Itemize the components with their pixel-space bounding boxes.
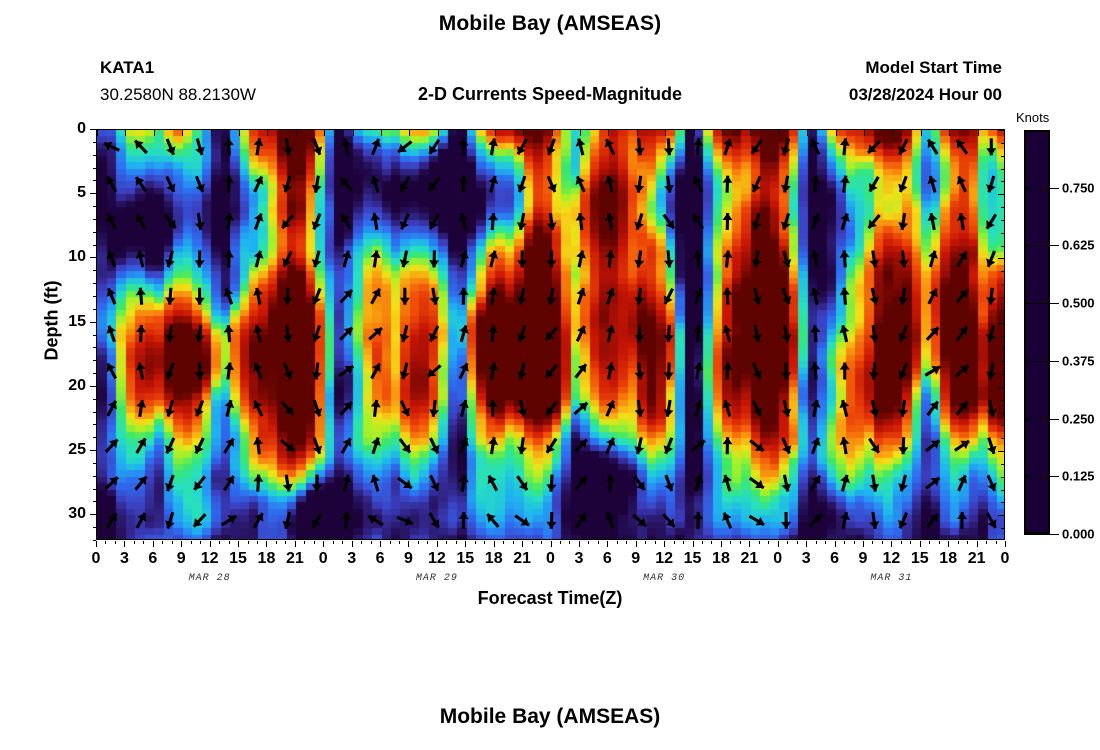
y-axis-minor-tick xyxy=(93,180,96,181)
x-axis-minor-tick xyxy=(588,541,589,544)
x-axis-top-tick xyxy=(523,130,524,136)
x-axis-tick-label: 0 xyxy=(546,550,555,568)
y-axis-minor-tick xyxy=(93,219,96,220)
x-axis-tick xyxy=(636,541,637,547)
x-axis-minor-tick xyxy=(854,541,855,544)
model-start-time-value: 03/28/2024 Hour 00 xyxy=(849,85,1002,105)
x-axis-minor-tick xyxy=(248,541,249,544)
x-axis-minor-tick xyxy=(655,541,656,544)
colorbar-level-divider xyxy=(1024,476,1050,477)
x-axis-day-label: MAR 29 xyxy=(416,573,458,584)
x-axis-top-tick xyxy=(438,130,439,136)
x-axis-minor-tick xyxy=(105,541,106,544)
y-axis-right-minor-tick xyxy=(1001,297,1004,298)
x-axis-tick xyxy=(380,541,381,547)
x-axis-tick xyxy=(835,541,836,547)
x-axis-tick-label: 15 xyxy=(684,550,702,568)
y-axis-right-minor-tick xyxy=(1001,310,1004,311)
x-axis-minor-tick xyxy=(333,541,334,544)
x-axis-tick xyxy=(295,541,296,547)
x-axis-tick xyxy=(181,541,182,547)
x-axis-tick-label: 18 xyxy=(712,550,730,568)
x-axis-tick xyxy=(494,541,495,547)
colorbar-tick xyxy=(1050,419,1059,420)
x-axis-tick-label: 21 xyxy=(740,550,758,568)
y-axis-minor-tick xyxy=(93,296,96,297)
x-axis-day-label: MAR 28 xyxy=(189,573,231,584)
x-axis-top-tick xyxy=(97,130,98,136)
colorbar-tick-label: 0.750 xyxy=(1062,180,1095,195)
y-axis-minor-tick xyxy=(93,335,96,336)
x-axis-top-tick xyxy=(466,130,467,136)
y-axis-tick-label: 20 xyxy=(68,377,86,395)
x-axis-top-tick xyxy=(154,130,155,136)
y-axis-title: Depth (ft) xyxy=(42,261,63,381)
y-axis-right-minor-tick xyxy=(1001,156,1004,157)
x-axis-tick xyxy=(721,541,722,547)
x-axis-minor-tick xyxy=(143,541,144,544)
y-axis-right-minor-tick xyxy=(1001,271,1004,272)
x-axis-minor-tick xyxy=(427,541,428,544)
x-axis-tick-label: 15 xyxy=(911,550,929,568)
x-axis-minor-tick xyxy=(730,541,731,544)
x-axis-tick-label: 15 xyxy=(456,550,474,568)
x-axis-top-tick xyxy=(949,130,950,136)
x-axis-top-tick xyxy=(125,130,126,136)
x-axis-top-tick xyxy=(324,130,325,136)
x-axis-top-tick xyxy=(694,130,695,136)
x-axis-minor-tick xyxy=(371,541,372,544)
y-axis-minor-tick xyxy=(93,412,96,413)
y-axis-right-minor-tick xyxy=(1001,438,1004,439)
y-axis-minor-tick xyxy=(93,270,96,271)
x-axis-tick xyxy=(607,541,608,547)
y-axis-minor-tick xyxy=(93,360,96,361)
x-axis-top-tick xyxy=(864,130,865,136)
x-axis-minor-tick xyxy=(314,541,315,544)
y-axis-right-minor-tick xyxy=(1001,233,1004,234)
y-axis-minor-tick xyxy=(93,245,96,246)
station-id: KATA1 xyxy=(100,58,154,78)
colorbar-tick-label: 0.500 xyxy=(1062,296,1095,311)
y-axis-right-minor-tick xyxy=(1001,348,1004,349)
bottom-title: Mobile Bay (AMSEAS) xyxy=(0,705,1100,729)
x-axis-tick xyxy=(352,541,353,547)
x-axis-tick xyxy=(266,541,267,547)
x-axis-minor-tick xyxy=(683,541,684,544)
x-axis-tick xyxy=(948,541,949,547)
x-axis-tick xyxy=(891,541,892,547)
x-axis-minor-tick xyxy=(711,541,712,544)
x-axis-minor-tick xyxy=(882,541,883,544)
x-axis-tick-label: 9 xyxy=(404,550,413,568)
x-axis-minor-tick xyxy=(484,541,485,544)
x-axis-minor-tick xyxy=(910,541,911,544)
y-axis-minor-tick xyxy=(93,437,96,438)
x-axis-tick-label: 3 xyxy=(347,550,356,568)
x-axis-top-tick xyxy=(921,130,922,136)
x-axis-minor-tick xyxy=(361,541,362,544)
x-axis-minor-tick xyxy=(674,541,675,544)
x-axis-top-tick xyxy=(211,130,212,136)
x-axis-tick-label: 3 xyxy=(120,550,129,568)
x-axis-tick-label: 6 xyxy=(603,550,612,568)
x-axis-tick-label: 3 xyxy=(802,550,811,568)
x-axis-tick-label: 18 xyxy=(485,550,503,568)
x-axis-minor-tick xyxy=(115,541,116,544)
x-axis-minor-tick xyxy=(872,541,873,544)
x-axis-tick xyxy=(806,541,807,547)
colorbar xyxy=(1024,130,1050,534)
x-axis-tick-label: 18 xyxy=(258,550,276,568)
y-axis-tick xyxy=(90,129,96,130)
x-axis-minor-tick xyxy=(768,541,769,544)
y-axis-minor-tick xyxy=(93,168,96,169)
y-axis-minor-tick xyxy=(93,489,96,490)
x-axis-tick-label: 12 xyxy=(655,550,673,568)
x-axis-minor-tick xyxy=(229,541,230,544)
y-axis-minor-tick xyxy=(93,232,96,233)
x-axis-minor-tick xyxy=(162,541,163,544)
x-axis-tick xyxy=(437,541,438,547)
y-axis-tick xyxy=(90,450,96,451)
y-axis-right-minor-tick xyxy=(1001,207,1004,208)
colorbar-level-divider xyxy=(1024,303,1050,304)
y-axis-right-minor-tick xyxy=(1001,220,1004,221)
x-axis-tick xyxy=(778,541,779,547)
x-axis-top-tick xyxy=(552,130,553,136)
x-axis-tick xyxy=(920,541,921,547)
colorbar-tick-label: 0.375 xyxy=(1062,353,1095,368)
x-axis-top-tick xyxy=(807,130,808,136)
x-axis-tick xyxy=(579,541,580,547)
x-axis-top-tick xyxy=(381,130,382,136)
y-axis-right-minor-tick xyxy=(1001,284,1004,285)
y-axis-tick xyxy=(90,386,96,387)
colorbar-tick xyxy=(1050,188,1059,189)
colorbar-tick xyxy=(1050,303,1059,304)
x-axis-top-tick xyxy=(836,130,837,136)
colorbar-tick-label: 0.125 xyxy=(1062,469,1095,484)
page-title: Mobile Bay (AMSEAS) xyxy=(0,12,1100,36)
colorbar-tick-label: 0.000 xyxy=(1062,527,1095,542)
x-axis-tick xyxy=(238,541,239,547)
colorbar-level-divider xyxy=(1024,361,1050,362)
x-axis-top-tick xyxy=(892,130,893,136)
x-axis-minor-tick xyxy=(172,541,173,544)
x-axis-top-tick xyxy=(665,130,666,136)
x-axis-minor-tick xyxy=(532,541,533,544)
y-axis-right-tick xyxy=(998,323,1004,324)
y-axis-right-minor-tick xyxy=(1001,181,1004,182)
colorbar-level-divider xyxy=(1024,188,1050,189)
y-axis-tick-label: 30 xyxy=(68,505,86,523)
x-axis-minor-tick xyxy=(456,541,457,544)
y-axis-right-minor-tick xyxy=(1001,502,1004,503)
y-axis-minor-tick xyxy=(93,399,96,400)
y-axis-tick xyxy=(90,514,96,515)
x-axis-tick xyxy=(522,541,523,547)
x-axis-tick xyxy=(124,541,125,547)
colorbar-tick xyxy=(1050,245,1059,246)
x-axis-minor-tick xyxy=(304,541,305,544)
x-axis-minor-tick xyxy=(399,541,400,544)
x-axis-minor-tick xyxy=(929,541,930,544)
x-axis-tick-label: 6 xyxy=(148,550,157,568)
x-axis-minor-tick xyxy=(901,541,902,544)
model-start-time-label: Model Start Time xyxy=(865,58,1002,78)
x-axis-minor-tick xyxy=(541,541,542,544)
x-axis-tick-label: 9 xyxy=(177,550,186,568)
y-axis-right-tick xyxy=(998,130,1004,131)
x-axis-top-tick xyxy=(779,130,780,136)
x-axis-title: Forecast Time(Z) xyxy=(0,588,1100,609)
y-axis-right-tick xyxy=(998,194,1004,195)
x-axis-tick-label: 0 xyxy=(319,550,328,568)
y-axis-minor-tick xyxy=(93,476,96,477)
x-axis-tick xyxy=(977,541,978,547)
x-axis-minor-tick xyxy=(191,541,192,544)
x-axis-top-tick xyxy=(978,130,979,136)
y-axis-right-minor-tick xyxy=(1001,425,1004,426)
x-axis-tick-label: 21 xyxy=(968,550,986,568)
y-axis-right-tick xyxy=(998,387,1004,388)
y-axis-tick-label: 0 xyxy=(77,120,86,138)
x-axis-top-tick xyxy=(267,130,268,136)
colorbar-level-divider xyxy=(1024,419,1050,420)
x-axis-top-tick xyxy=(608,130,609,136)
x-axis-minor-tick xyxy=(740,541,741,544)
x-axis-day-label: MAR 31 xyxy=(870,573,912,584)
x-axis-tick-label: 12 xyxy=(201,550,219,568)
x-axis-minor-tick xyxy=(702,541,703,544)
x-axis-minor-tick xyxy=(219,541,220,544)
x-axis-tick xyxy=(693,541,694,547)
x-axis-tick-label: 9 xyxy=(631,550,640,568)
x-axis-tick-label: 18 xyxy=(939,550,957,568)
y-axis-right-minor-tick xyxy=(1001,490,1004,491)
x-axis-minor-tick xyxy=(844,541,845,544)
x-axis-top-tick xyxy=(722,130,723,136)
x-axis-tick xyxy=(465,541,466,547)
x-axis-minor-tick xyxy=(617,541,618,544)
x-axis-minor-tick xyxy=(285,541,286,544)
y-axis-tick-label: 25 xyxy=(68,441,86,459)
y-axis-right-tick xyxy=(998,258,1004,259)
x-axis-tick-label: 6 xyxy=(830,550,839,568)
x-axis-tick-label: 3 xyxy=(574,550,583,568)
x-axis-minor-tick xyxy=(560,541,561,544)
x-axis-top-tick xyxy=(182,130,183,136)
x-axis-tick-label: 12 xyxy=(428,550,446,568)
y-axis-minor-tick xyxy=(93,540,96,541)
y-axis-right-minor-tick xyxy=(1001,374,1004,375)
x-axis-minor-tick xyxy=(475,541,476,544)
y-axis-minor-tick xyxy=(93,463,96,464)
x-axis-tick xyxy=(551,541,552,547)
y-axis-right-tick xyxy=(998,515,1004,516)
y-axis-right-minor-tick xyxy=(1001,361,1004,362)
colorbar-units-label: Knots xyxy=(1016,110,1049,125)
x-axis-minor-tick xyxy=(986,541,987,544)
y-axis-tick-label: 5 xyxy=(77,184,86,202)
y-axis-minor-tick xyxy=(93,206,96,207)
x-axis-top-tick xyxy=(409,130,410,136)
colorbar-tick xyxy=(1050,361,1059,362)
x-axis-minor-tick xyxy=(134,541,135,544)
x-axis-top-tick xyxy=(296,130,297,136)
y-axis-minor-tick xyxy=(93,142,96,143)
x-axis-minor-tick xyxy=(759,541,760,544)
y-axis-right-minor-tick xyxy=(1001,413,1004,414)
x-axis-tick-label: 21 xyxy=(513,550,531,568)
y-axis-right-minor-tick xyxy=(1001,528,1004,529)
x-axis-tick-label: 15 xyxy=(229,550,247,568)
x-axis-minor-tick xyxy=(200,541,201,544)
x-axis-day-label: MAR 30 xyxy=(643,573,685,584)
y-axis-minor-tick xyxy=(93,283,96,284)
heatmap-plot-area xyxy=(96,129,1005,540)
colorbar-tick-label: 0.250 xyxy=(1062,411,1095,426)
x-axis-minor-tick xyxy=(503,541,504,544)
y-axis-minor-tick xyxy=(93,309,96,310)
y-axis-tick xyxy=(90,322,96,323)
x-axis-tick-label: 21 xyxy=(286,550,304,568)
x-axis-tick-label: 12 xyxy=(882,550,900,568)
x-axis-minor-tick xyxy=(967,541,968,544)
x-axis-tick xyxy=(210,541,211,547)
colorbar-level-divider xyxy=(1024,245,1050,246)
y-axis-right-tick xyxy=(998,451,1004,452)
x-axis-tick xyxy=(96,541,97,547)
x-axis-minor-tick xyxy=(825,541,826,544)
x-axis-tick xyxy=(1005,541,1006,547)
x-axis-top-tick xyxy=(580,130,581,136)
x-axis-minor-tick xyxy=(787,541,788,544)
y-axis-tick xyxy=(90,193,96,194)
y-axis-minor-tick xyxy=(93,155,96,156)
colorbar-tick-label: 0.625 xyxy=(1062,238,1095,253)
colorbar-level-divider xyxy=(1024,534,1050,535)
x-axis-minor-tick xyxy=(569,541,570,544)
x-axis-tick xyxy=(408,541,409,547)
x-axis-minor-tick xyxy=(996,541,997,544)
x-axis-top-tick xyxy=(637,130,638,136)
y-axis-tick-label: 10 xyxy=(68,248,86,266)
x-axis-minor-tick xyxy=(939,541,940,544)
x-axis-tick xyxy=(153,541,154,547)
x-axis-minor-tick xyxy=(446,541,447,544)
y-axis-right-minor-tick xyxy=(1001,477,1004,478)
y-axis-minor-tick xyxy=(93,373,96,374)
y-axis-minor-tick xyxy=(93,424,96,425)
y-axis-tick xyxy=(90,257,96,258)
x-axis-minor-tick xyxy=(276,541,277,544)
x-axis-tick-label: 0 xyxy=(773,550,782,568)
y-axis-right-minor-tick xyxy=(1001,336,1004,337)
x-axis-minor-tick xyxy=(418,541,419,544)
x-axis-tick-label: 0 xyxy=(1001,550,1010,568)
x-axis-top-tick xyxy=(239,130,240,136)
x-axis-tick xyxy=(664,541,665,547)
colorbar-gradient xyxy=(1026,132,1048,532)
y-axis-right-minor-tick xyxy=(1001,143,1004,144)
x-axis-minor-tick xyxy=(645,541,646,544)
y-axis-right-minor-tick xyxy=(1001,169,1004,170)
x-axis-minor-tick xyxy=(598,541,599,544)
x-axis-tick xyxy=(323,541,324,547)
x-axis-minor-tick xyxy=(816,541,817,544)
x-axis-top-tick xyxy=(495,130,496,136)
x-axis-top-tick xyxy=(353,130,354,136)
x-axis-tick xyxy=(749,541,750,547)
y-axis-minor-tick xyxy=(93,501,96,502)
y-axis-minor-tick xyxy=(93,347,96,348)
x-axis-tick-label: 6 xyxy=(376,550,385,568)
x-axis-minor-tick xyxy=(797,541,798,544)
colorbar-tick xyxy=(1050,534,1059,535)
x-axis-minor-tick xyxy=(257,541,258,544)
x-axis-tick-label: 0 xyxy=(92,550,101,568)
y-axis-right-minor-tick xyxy=(1001,400,1004,401)
current-vector-overlay xyxy=(97,130,1005,540)
colorbar-tick xyxy=(1050,476,1059,477)
x-axis-minor-tick xyxy=(390,541,391,544)
x-axis-minor-tick xyxy=(342,541,343,544)
y-axis-tick-label: 15 xyxy=(68,313,86,331)
x-axis-top-tick xyxy=(750,130,751,136)
y-axis-minor-tick xyxy=(93,527,96,528)
y-axis-right-minor-tick xyxy=(1001,464,1004,465)
y-axis-right-minor-tick xyxy=(1001,246,1004,247)
x-axis-tick-label: 9 xyxy=(859,550,868,568)
x-axis-minor-tick xyxy=(958,541,959,544)
x-axis-tick xyxy=(863,541,864,547)
x-axis-minor-tick xyxy=(626,541,627,544)
x-axis-minor-tick xyxy=(513,541,514,544)
